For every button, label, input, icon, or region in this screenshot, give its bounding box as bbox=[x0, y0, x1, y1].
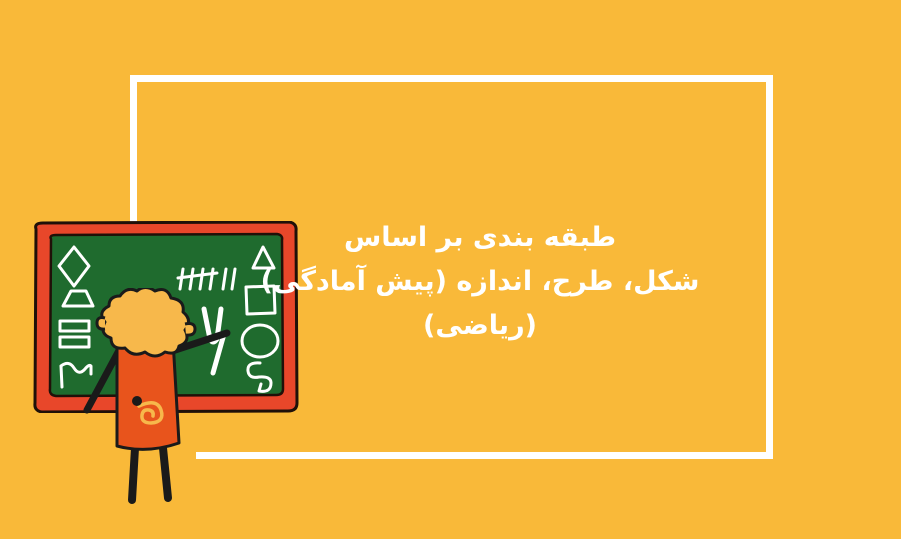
frame-border-bottom bbox=[196, 452, 773, 459]
frame-border-top bbox=[130, 75, 773, 82]
headline-line-2: شکل، طرح، اندازه (پیش آمادگی) bbox=[250, 260, 710, 304]
frame-border-left bbox=[130, 75, 137, 228]
headline-line-3: (ریاضی) bbox=[250, 304, 710, 348]
hair-lobe-right bbox=[185, 324, 195, 336]
right-leg bbox=[163, 448, 168, 498]
teacher-hair bbox=[102, 288, 189, 356]
slide-canvas: طبقه بندی بر اساس شکل، طرح، اندازه (پیش … bbox=[0, 0, 901, 539]
hair-lobe-left bbox=[97, 318, 105, 330]
headline-line-1: طبقه بندی بر اساس bbox=[250, 216, 710, 260]
page-title: طبقه بندی بر اساس شکل، طرح، اندازه (پیش … bbox=[250, 216, 710, 348]
left-leg bbox=[132, 448, 135, 500]
frame-border-right bbox=[766, 75, 773, 459]
teacher-figure bbox=[75, 288, 250, 523]
teacher-dress bbox=[117, 340, 179, 449]
